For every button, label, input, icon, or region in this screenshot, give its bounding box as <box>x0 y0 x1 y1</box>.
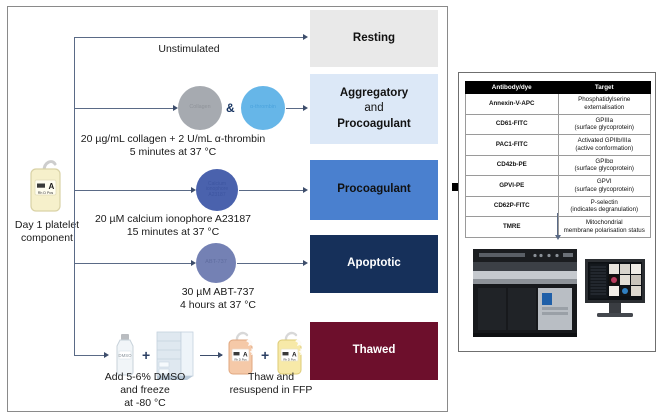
branch-line-thawed-in <box>74 355 105 356</box>
cell-target: P-selectin (indicates degranulation) <box>558 196 651 217</box>
cell-target: GPVI (surface glycoprotein) <box>558 176 651 197</box>
agonist-circle-thrombin: α-thrombin <box>241 86 285 130</box>
antibody-target-table: Antibody/dye Target Annexin-V-APC Phosph… <box>465 81 651 238</box>
mini-arrow-freeze-to-thaw <box>200 355 222 356</box>
branch-arrowhead-thawed-in <box>104 352 109 358</box>
table-row: TMRE Mitochondrial membrane polarisation… <box>466 217 651 238</box>
branch-arrowhead-apoptotic-out <box>303 260 308 266</box>
cell-antibody: GPVI-PE <box>466 176 559 197</box>
outcome-label-aggregatory-procoagulant: Procoagulant <box>337 117 410 133</box>
cell-antibody: CD42b-PE <box>466 155 559 176</box>
branch-line-procoagulant-in <box>74 190 192 191</box>
outcome-label-aggregatory-and: and <box>364 101 383 117</box>
table-header-target: Target <box>558 82 651 94</box>
svg-text:A: A <box>49 182 55 191</box>
table-to-instrument-arrow <box>557 213 558 235</box>
conjunction-ampersand: & <box>226 101 235 115</box>
branch-line-resting <box>74 37 304 38</box>
branch-line-aggregatory-in <box>74 108 174 109</box>
caption-procoagulant: 20 µM calcium ionophore A23187 15 minute… <box>53 213 293 239</box>
branch-line-aggregatory-out <box>286 108 304 109</box>
agonist-circle-collagen: Collagen <box>178 86 222 130</box>
svg-text:Rh D Pos: Rh D Pos <box>283 358 296 362</box>
outcome-box-procoagulant: Procoagulant <box>310 160 438 220</box>
branch-arrowhead-resting <box>303 34 308 40</box>
cell-target: Activated GPIIb/IIIa (active conformatio… <box>558 135 651 156</box>
outcome-label-thawed: Thawed <box>353 343 396 359</box>
branch-line-apoptotic-in <box>74 263 192 264</box>
branch-line-apoptotic-out <box>237 263 304 264</box>
table-row: GPVI-PE GPVI (surface glycoprotein) <box>466 176 651 197</box>
caption-aggregatory: 20 µg/mL collagen + 2 U/mL α-thrombin 5 … <box>48 133 298 159</box>
imaging-flow-cytometer-icon <box>469 241 649 341</box>
table-row: CD61-FITC GPIIIa (surface glycoprotein) <box>466 114 651 135</box>
outcome-box-aggregatory: Aggregatory and Procoagulant <box>310 74 438 144</box>
table-row: Annexin-V-APC Phosphatidylserine externa… <box>466 94 651 115</box>
workflow-panel: A Rh D Pos Day 1 platelet component Unst… <box>7 6 448 412</box>
cell-target: Phosphatidylserine externalisation <box>558 94 651 115</box>
cell-antibody: PAC1-FITC <box>466 135 559 156</box>
outcome-box-thawed: Thawed <box>310 322 438 380</box>
agonist-circle-calcium-ionophore: Calcium ionophore A23187 <box>196 169 238 211</box>
cell-antibody: CD61-FITC <box>466 114 559 135</box>
branch-line-procoagulant-out <box>239 190 304 191</box>
plus-sign-thaw: + <box>261 347 269 363</box>
trunk-line <box>74 37 75 355</box>
svg-text:DMSO: DMSO <box>118 353 132 358</box>
platelet-bag-icon: A Rh D Pos <box>22 157 70 215</box>
assay-panel: Antibody/dye Target Annexin-V-APC Phosph… <box>458 72 656 352</box>
table-header-antibody: Antibody/dye <box>466 82 559 94</box>
outcome-box-resting: Resting <box>310 10 438 67</box>
cell-target: GPIIIa (surface glycoprotein) <box>558 114 651 135</box>
branch-arrowhead-aggregatory-out <box>303 105 308 111</box>
svg-text:Rh D Pos: Rh D Pos <box>234 358 247 362</box>
outcome-label-apoptotic: Apoptotic <box>347 256 401 272</box>
outcome-label-procoagulant: Procoagulant <box>337 182 410 198</box>
plus-sign-dmso: + <box>142 347 150 363</box>
cell-target: Mitochondrial membrane polarisation stat… <box>558 217 651 238</box>
table-row: PAC1-FITC Activated GPIIb/IIIa (active c… <box>466 135 651 156</box>
outcome-box-apoptotic: Apoptotic <box>310 235 438 293</box>
caption-apoptotic: 30 µM ABT-737 4 hours at 37 °C <box>133 286 303 312</box>
caption-dmso-freeze: Add 5-6% DMSO and freeze at -80 °C <box>80 371 210 410</box>
cell-antibody: TMRE <box>466 217 559 238</box>
treatment-label-resting: Unstimulated <box>104 43 274 56</box>
table-header-row: Antibody/dye Target <box>466 82 651 94</box>
outcome-label-resting: Resting <box>353 31 395 47</box>
table-row: CD62P-FITC P-selectin (indicates degranu… <box>466 196 651 217</box>
outcome-label-aggregatory: Aggregatory <box>340 86 408 102</box>
cell-target: GPIbα (surface glycoprotein) <box>558 155 651 176</box>
table-row: CD42b-PE GPIbα (surface glycoprotein) <box>466 155 651 176</box>
svg-text:Rh D Pos: Rh D Pos <box>38 191 54 195</box>
agonist-circle-abt737: ABT-737 <box>196 243 236 283</box>
cell-antibody: Annexin-V-APC <box>466 94 559 115</box>
cell-antibody: CD62P-FITC <box>466 196 559 217</box>
branch-arrowhead-procoagulant-out <box>303 187 308 193</box>
figure-root: A Rh D Pos Day 1 platelet component Unst… <box>0 0 661 419</box>
